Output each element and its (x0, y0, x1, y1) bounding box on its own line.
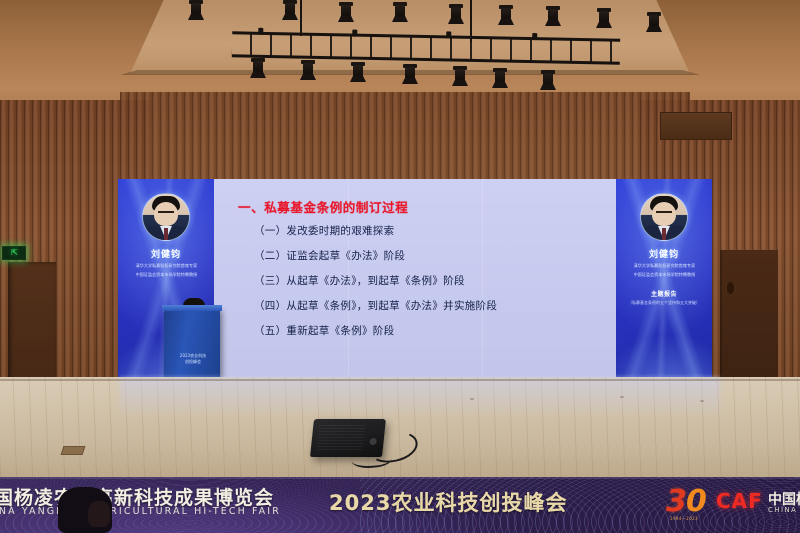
slide-bullet-item: （一）发改委时期的艰难探索 (254, 219, 602, 244)
banner-right-english-title: CHINA Y (768, 506, 800, 514)
slide-bullet-item: （三）从起草《办法》，到起草《条例》阶段 (254, 269, 602, 294)
stage-light (498, 5, 514, 25)
presentation-slide: 一、私募基金条例的制订过程 （一）发改委时期的艰难探索 （二）证监会起草《办法》… (214, 179, 616, 379)
exit-sign: ⇱ (2, 246, 26, 260)
audience-member-silhouette (58, 487, 112, 533)
truss-node (446, 31, 451, 38)
stage-edge-seam (0, 379, 800, 381)
anniversary-digit-0: 0 (686, 487, 707, 517)
speaker-credential-left-2: 中国证监会资本市场学院特聘教授 (135, 272, 197, 278)
screen-panel-seam (348, 179, 349, 379)
stage-light (300, 60, 316, 80)
screen-panel-seam (482, 179, 483, 379)
stage-light (188, 0, 204, 20)
slide-bullet-list: （一）发改委时期的艰难探索 （二）证监会起草《办法》阶段 （三）从起草《办法》，… (232, 219, 602, 344)
speaker-credential-right-2: 中国证监会资本市场学院特聘教授 (633, 272, 695, 278)
speaker-credential-left-1: 清华大学私募股权研究院首席专家 (135, 263, 197, 269)
speaker-topic-label-right: 主题报告 (651, 289, 677, 298)
caf-logo-text: CAF (716, 489, 763, 513)
speaker-name-left: 刘健钧 (151, 247, 181, 260)
floor-screen-reflection (120, 377, 720, 419)
podium-label-line-2: 创投峰会 (170, 359, 216, 365)
slide-bullet-item: （五）重新起草《条例》阶段 (254, 319, 602, 344)
stage-light (402, 64, 418, 84)
panel-bottom-glow (616, 333, 712, 379)
stage-light (350, 62, 366, 82)
podium-top-surface (162, 305, 222, 311)
speaker-portrait-left (142, 193, 190, 241)
truss-hanging-rod (300, 0, 302, 36)
truss-hanging-rod (470, 0, 472, 42)
truss-node (352, 30, 357, 37)
floor-mark (620, 396, 624, 398)
stage-light (392, 2, 408, 22)
stage-light (250, 58, 266, 78)
speaker-grille (317, 425, 366, 451)
screen-right-speaker-panel: 刘健钧 清华大学私募股权研究院首席专家 中国证监会资本市场学院特聘教授 主题报告… (616, 179, 712, 379)
stage-photograph: ⇱ (0, 0, 800, 533)
bottom-event-banner: 国杨凌农业高新科技成果博览会 INA YANGLING AGRICULTURAL… (0, 477, 800, 533)
truss-node (258, 28, 263, 35)
stage-light (448, 4, 464, 24)
speaker-portrait-right (640, 193, 688, 241)
speaker-credential-right-1: 清华大学私募股权研究院首席专家 (633, 263, 695, 269)
floor-mark (700, 400, 704, 402)
speaker-topic-sub-right: （私募基金条例的五个坚持和五大突破） (628, 300, 700, 305)
truss-node (532, 33, 537, 40)
floor-vent (61, 446, 86, 455)
stage-light (492, 68, 508, 88)
wall-vent (660, 112, 732, 140)
stage-light (282, 0, 298, 20)
anniversary-30-logo: 3 0 1994—2023 (666, 485, 710, 525)
anniversary-digit-3: 3 (666, 487, 687, 517)
stage-light (646, 12, 662, 32)
door-knob (727, 282, 734, 294)
stage-light (540, 70, 556, 90)
banner-left-english-title: INA YANGLING AGRICULTURAL HI-TECH FAIR (0, 506, 281, 517)
slide-bullet-item: （二）证监会起草《办法》阶段 (254, 244, 602, 269)
exit-running-man-icon: ⇱ (11, 249, 17, 257)
stage-light (596, 8, 612, 28)
slide-bullet-item: （四）从起草《条例》，到起草《办法》并实施阶段 (254, 294, 602, 319)
slide-title: 一、私募基金条例的制订过程 (238, 197, 602, 216)
anniversary-years: 1994—2023 (670, 516, 698, 521)
stage-light (545, 6, 561, 26)
stage-light (452, 66, 468, 86)
stage-light (338, 2, 354, 22)
speaker-name-right: 刘健钧 (649, 247, 679, 260)
banner-center-title: 2023农业科技创投峰会 (329, 487, 567, 517)
floor-mark (470, 398, 474, 400)
